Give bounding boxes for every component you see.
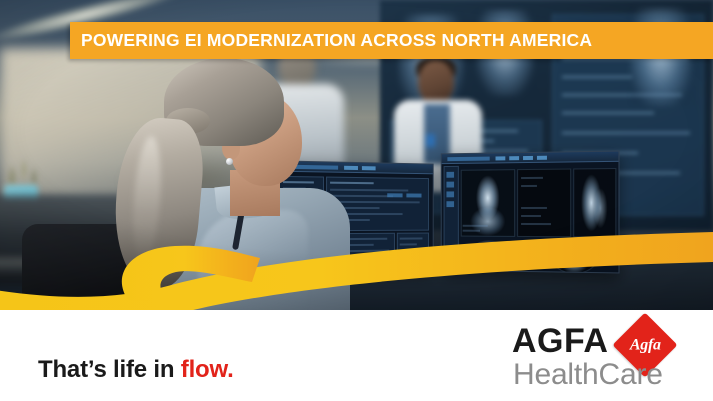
- clinician-id-badge: [426, 134, 435, 147]
- toolbar-icon: [509, 156, 519, 160]
- logo-wordmark-healthcare: HealthCare: [513, 360, 663, 390]
- earring-icon: [226, 158, 233, 165]
- ct-sagittal-view: [573, 168, 616, 238]
- ct-series-view: [517, 169, 571, 238]
- headline-banner: POWERING EI MODERNIZATION ACROSS NORTH A…: [70, 22, 713, 59]
- radiologist-shirt-highlight: [198, 210, 308, 310]
- headline-text: POWERING EI MODERNIZATION ACROSS NORTH A…: [70, 30, 592, 51]
- tagline-accent: flow.: [181, 356, 234, 383]
- wall-ui-text-line: [562, 112, 654, 114]
- toolbar-icon: [446, 191, 454, 197]
- foreground-radiologist: [78, 58, 338, 310]
- logo-wordmark-agfa: AGFA: [512, 324, 608, 358]
- ui-text-line: [400, 243, 417, 245]
- ui-chip: [406, 193, 421, 197]
- workstation-monitor-right: [441, 151, 620, 274]
- toolbar-icon: [537, 155, 547, 159]
- agfa-healthcare-logo: AGFA Agfa HealthCare: [512, 320, 692, 396]
- toolbar-icon: [446, 201, 454, 207]
- titlebar-chip: [447, 156, 489, 161]
- marketing-banner-canvas: POWERING EI MODERNIZATION ACROSS NORTH A…: [0, 0, 713, 401]
- scan-annotation: [517, 257, 533, 259]
- toolbar-icon: [446, 182, 454, 188]
- toolbar-icon: [496, 156, 506, 160]
- scan-annotation: [521, 207, 547, 209]
- ui-text-line: [400, 255, 419, 257]
- titlebar-chip: [344, 165, 358, 169]
- toolbar-icon: [523, 155, 533, 159]
- ct-coronal-view: [461, 169, 515, 237]
- scan-annotation: [521, 215, 541, 217]
- scan-annotation: [521, 185, 537, 187]
- ct-axial-view: [466, 241, 511, 273]
- scan-annotation: [517, 249, 539, 251]
- scan-annotation: [463, 230, 480, 232]
- ui-text-line: [400, 249, 425, 251]
- toolbar-icon: [446, 172, 454, 178]
- scan-annotation: [521, 177, 543, 179]
- tagline-prefix: That’s life in: [38, 356, 181, 383]
- tagline: That’s life in flow.: [38, 356, 234, 384]
- footer-bar: That’s life in flow. AGFA Agfa HealthCar…: [0, 310, 713, 401]
- wall-ui-text-line: [562, 76, 632, 78]
- scan-annotation: [463, 225, 488, 227]
- wall-ui-text-line: [562, 132, 690, 134]
- ui-text-line: [400, 237, 423, 239]
- agfa-diamond-label: Agfa: [630, 336, 661, 354]
- titlebar-chip: [362, 166, 376, 170]
- scan-annotation: [521, 223, 551, 225]
- ct-axial-view: [551, 241, 598, 273]
- ui-chip: [387, 193, 402, 197]
- clinician-head: [418, 60, 454, 104]
